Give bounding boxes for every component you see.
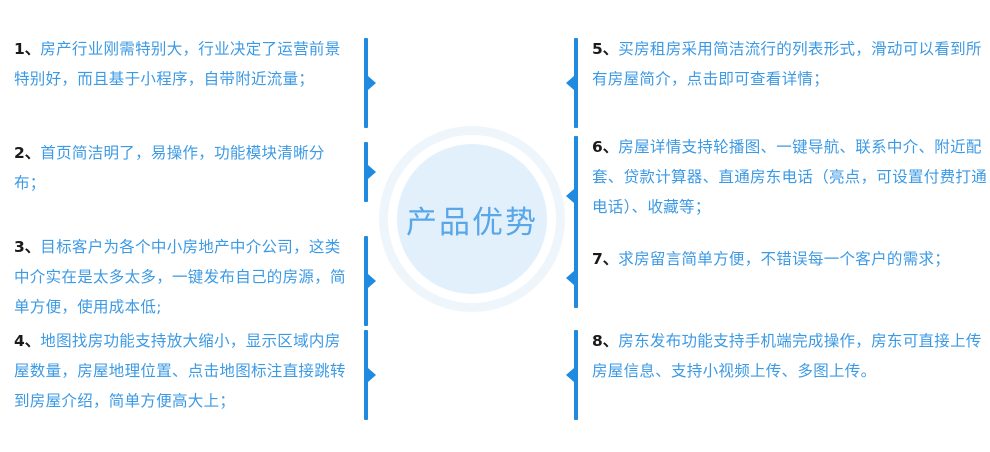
- advantage-item-5-text: 5、买房租房采用简洁流行的列表形式，滑动可以看到所有房屋简介，点击即可查看详情；: [582, 34, 990, 132]
- advantage-item-1-number: 1、: [14, 40, 40, 58]
- advantage-item-3-number: 3、: [14, 238, 40, 256]
- advantage-item-7-number: 7、: [592, 250, 618, 268]
- advantage-item-8: 8、房东发布功能支持手机端完成操作，房东可直接上传房屋信息、支持小视频上传、多图…: [570, 326, 990, 424]
- marker-bar: [574, 248, 578, 308]
- advantage-item-3-body: 目标客户为各个中小房地产中介公司，这类中介实在是太多太多，一键发布自己的房源，简…: [14, 238, 346, 316]
- advantage-item-4-number: 4、: [14, 332, 40, 350]
- advantage-item-6-text: 6、房屋详情支持轮播图、一键导航、联系中介、附近配套、贷款计算器、直通房东电话（…: [582, 132, 990, 260]
- left-items-column: 1、房产行业刚需特别大，行业决定了运营前景特别好，而且基于小程序，自带附近流量；…: [0, 0, 372, 452]
- advantage-item-6-marker: [570, 132, 582, 260]
- advantage-item-7-text: 7、求房留言简单方便，不错误每一个客户的需求；: [582, 244, 990, 312]
- advantage-item-4-text: 4、地图找房功能支持放大缩小，显示区域内房屋数量，房屋地理位置、点击地图标注直接…: [14, 326, 360, 424]
- advantage-item-6-body: 房屋详情支持轮播图、一键导航、联系中介、附近配套、贷款计算器、直通房东电话（亮点…: [592, 138, 987, 216]
- advantage-item-8-number: 8、: [592, 332, 618, 350]
- advantage-item-7-body: 求房留言简单方便，不错误每一个客户的需求；: [618, 250, 950, 268]
- advantage-item-5-marker: [570, 34, 582, 132]
- advantage-item-7: 7、求房留言简单方便，不错误每一个客户的需求；: [570, 244, 990, 312]
- arrow-left-icon: [566, 368, 574, 382]
- advantage-item-2: 2、首页简洁明了，易操作，功能模块清晰分布；: [14, 138, 372, 206]
- marker-bar: [574, 330, 578, 420]
- advantage-item-7-marker: [570, 244, 582, 312]
- advantage-item-1-text: 1、房产行业刚需特别大，行业决定了运营前景特别好，而且基于小程序，自带附近流量；: [14, 34, 360, 132]
- advantage-item-2-text: 2、首页简洁明了，易操作，功能模块清晰分布；: [14, 138, 360, 206]
- advantage-item-6-number: 6、: [592, 138, 618, 156]
- page-title: 产品优势: [406, 197, 538, 242]
- marker-bar: [574, 136, 578, 256]
- advantage-item-2-marker: [360, 138, 372, 206]
- advantage-item-8-body: 房东发布功能支持手机端完成操作，房东可直接上传房屋信息、支持小视频上传、多图上传…: [592, 332, 982, 380]
- advantage-item-5-number: 5、: [592, 40, 618, 58]
- advantage-item-6: 6、房屋详情支持轮播图、一键导航、联系中介、附近配套、贷款计算器、直通房东电话（…: [570, 132, 990, 260]
- advantage-item-4-marker: [360, 326, 372, 424]
- arrow-right-icon: [368, 368, 376, 382]
- marker-bar: [574, 38, 578, 128]
- advantage-item-5: 5、买房租房采用简洁流行的列表形式，滑动可以看到所有房屋简介，点击即可查看详情；: [570, 34, 990, 132]
- advantage-item-2-number: 2、: [14, 144, 40, 162]
- advantage-item-3-marker: [360, 232, 372, 330]
- arrow-right-icon: [368, 76, 376, 90]
- advantage-item-3: 3、目标客户为各个中小房地产中介公司，这类中介实在是太多太多，一键发布自己的房源…: [14, 232, 372, 330]
- advantage-item-1: 1、房产行业刚需特别大，行业决定了运营前景特别好，而且基于小程序，自带附近流量；: [14, 34, 372, 132]
- advantage-item-4-body: 地图找房功能支持放大缩小，显示区域内房屋数量，房屋地理位置、点击地图标注直接跳转…: [14, 332, 346, 410]
- advantage-item-4: 4、地图找房功能支持放大缩小，显示区域内房屋数量，房屋地理位置、点击地图标注直接…: [14, 326, 372, 424]
- advantage-item-3-text: 3、目标客户为各个中小房地产中介公司，这类中介实在是太多太多，一键发布自己的房源…: [14, 232, 360, 330]
- product-advantages-infographic: 1、房产行业刚需特别大，行业决定了运营前景特别好，而且基于小程序，自带附近流量；…: [0, 0, 990, 452]
- arrow-left-icon: [566, 271, 574, 285]
- advantage-item-1-body: 房产行业刚需特别大，行业决定了运营前景特别好，而且基于小程序，自带附近流量；: [14, 40, 341, 88]
- arrow-left-icon: [566, 189, 574, 203]
- arrow-left-icon: [566, 76, 574, 90]
- right-items-column: 5、买房租房采用简洁流行的列表形式，滑动可以看到所有房屋简介，点击即可查看详情；…: [570, 0, 990, 452]
- advantage-item-5-body: 买房租房采用简洁流行的列表形式，滑动可以看到所有房屋简介，点击即可查看详情；: [592, 40, 982, 88]
- advantage-item-8-marker: [570, 326, 582, 424]
- advantage-item-2-body: 首页简洁明了，易操作，功能模块清晰分布；: [14, 144, 325, 192]
- advantage-item-1-marker: [360, 34, 372, 132]
- advantage-item-8-text: 8、房东发布功能支持手机端完成操作，房东可直接上传房屋信息、支持小视频上传、多图…: [582, 326, 990, 424]
- center-hub: 产品优势: [374, 121, 570, 317]
